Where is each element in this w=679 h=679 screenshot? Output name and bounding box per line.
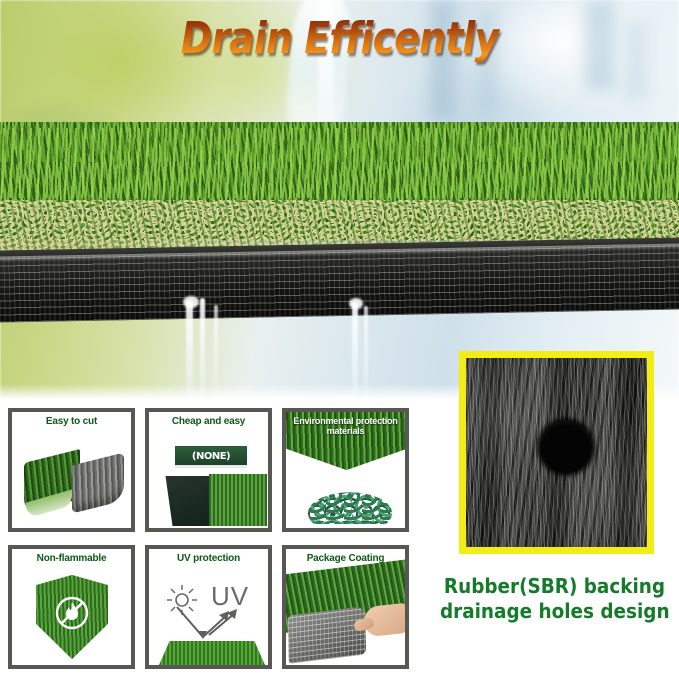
uv-reflection-arrows-icon [173,605,259,645]
panel-label: UV protection [149,553,268,564]
headline-title: Drain Efficently [48,16,632,62]
drainage-hole [540,421,592,473]
feature-panel-cheap-and-easy[interactable]: Cheap and easy (NONE) [145,408,272,532]
rubber-backing-closeup-inset[interactable] [459,351,654,554]
inset-caption: Rubber(SBR) backing drainage holes desig… [440,574,669,624]
turf-woven-backing [0,243,679,322]
feature-panel-non-flammable[interactable]: Non-flammable [8,545,135,669]
green-turf-swatch-icon [209,474,267,526]
caption-line-1: Rubber(SBR) backing [440,574,669,599]
panel-label: Package Coating [286,553,405,564]
panel-label: Environmental protection materials [286,416,405,436]
turf-blade-highlights [0,128,679,198]
panel-label: Non-flammable [12,553,131,564]
panel-label: Cheap and easy [149,416,268,427]
green-pellets-icon [308,488,392,524]
none-badge: (NONE) [175,446,247,468]
feature-panel-package-coating[interactable]: Package Coating [282,545,409,669]
product-feature-image: Drain Efficently Easy to cut Cheap and e… [0,0,679,679]
caption-line-2: drainage holes design [440,599,669,624]
turf-backing-underside-icon [288,606,366,664]
turf-surface-icon [159,641,265,665]
turf-slab [0,122,679,312]
feature-panel-easy-to-cut[interactable]: Easy to cut [8,408,135,532]
panel-label: Easy to cut [12,416,131,427]
no-fire-icon [54,595,90,631]
feature-panel-uv-protection[interactable]: UV protection UV [145,545,272,669]
feature-panel-environmental-protection[interactable]: Environmental protection materials [282,408,409,532]
feature-panel-grid: Easy to cut Cheap and easy (NONE) Enviro… [8,408,418,672]
